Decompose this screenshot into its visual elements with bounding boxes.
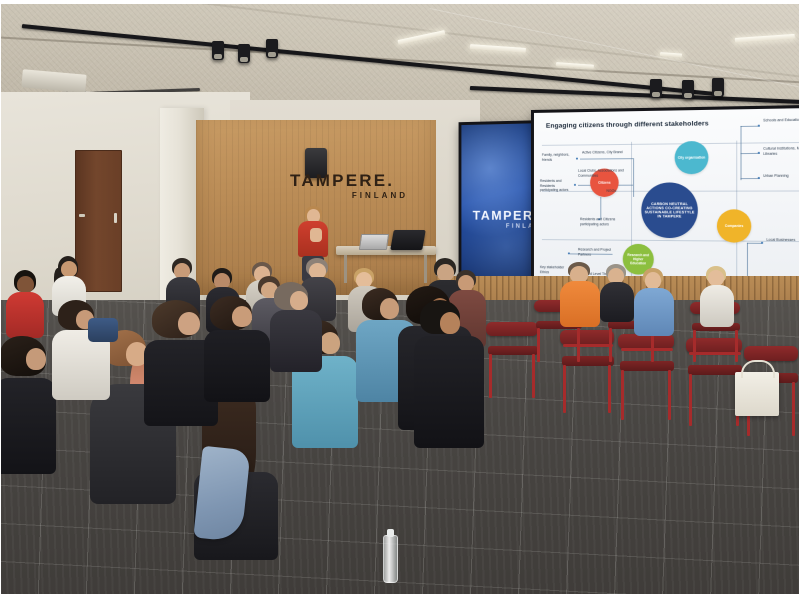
slide-bubble-companies: Companies — [717, 209, 751, 242]
slide-connector — [580, 158, 633, 159]
spotlight-icon — [266, 39, 278, 58]
slide-node-dot — [758, 177, 761, 180]
tote-bag[interactable] — [735, 372, 779, 416]
slide-bubble-city-organisation: City organisation — [675, 141, 709, 174]
slide-label-urban: Urban Planning — [763, 173, 800, 178]
confidence-monitor — [390, 230, 426, 250]
slide-label-residents2: Residents and Citizens participating act… — [580, 217, 627, 227]
slide-bubble-center: CARBON NEUTRAL ACTIONS CO-CREATING SUSTA… — [641, 182, 697, 238]
water-bottle[interactable] — [383, 535, 398, 583]
tampere-wall-logo-sub: FINLAND — [290, 191, 410, 200]
slide-node-dot — [761, 242, 764, 245]
slide-title: Engaging citizens through different stak… — [546, 119, 732, 131]
slide-gridline — [542, 142, 800, 146]
slide-label-clubs: Local Clubs, Associations and Communitie… — [578, 168, 627, 178]
spotlight-icon — [682, 80, 694, 99]
slide-label-residents: Residents and Residents participating ac… — [540, 179, 572, 193]
tampere-wall-logo: TAMPERE. FINLAND — [290, 172, 410, 200]
slide-node-dot — [576, 158, 578, 160]
table-leg — [424, 255, 427, 283]
laptop[interactable] — [359, 234, 389, 250]
slide-label-schools: Schools and Educational Services — [763, 117, 800, 123]
door-handle[interactable] — [79, 214, 85, 217]
spotlight-icon — [212, 41, 224, 60]
slide-node-dot — [574, 184, 576, 186]
table-leg — [344, 255, 347, 283]
spotlight-icon — [712, 78, 724, 97]
slide-label-local-biz: Local Businesses — [766, 238, 800, 243]
slide-label-research-partners: Research and Project Partners — [578, 247, 625, 257]
slide-label-active: Active Citizens, City Brand — [582, 150, 625, 155]
slide-connector — [747, 243, 762, 244]
tampere-wall-logo-main: TAMPERE. — [290, 172, 410, 189]
slide-node-dot — [758, 125, 761, 128]
photo-top-border — [0, 0, 800, 4]
slide-label-ngos: NGOs — [606, 189, 626, 194]
slide-label-family: Family, neighbors, friends — [542, 153, 572, 162]
spotlight-icon — [650, 79, 662, 98]
chair[interactable] — [486, 322, 540, 402]
spotlight-icon — [238, 44, 250, 63]
conference-room-photo: TAMPERE. FINLAND TAMPERE. FINLAND Engagi… — [0, 0, 800, 600]
slide-connector — [600, 197, 601, 219]
slide-node-dot — [758, 152, 761, 155]
slide-connector — [633, 158, 634, 197]
slide-label-cultural: Cultural Institutions, Museums, Librarie… — [763, 146, 800, 156]
backpack[interactable] — [88, 318, 118, 342]
photo-bottom-border — [0, 594, 800, 600]
door[interactable] — [75, 150, 122, 292]
